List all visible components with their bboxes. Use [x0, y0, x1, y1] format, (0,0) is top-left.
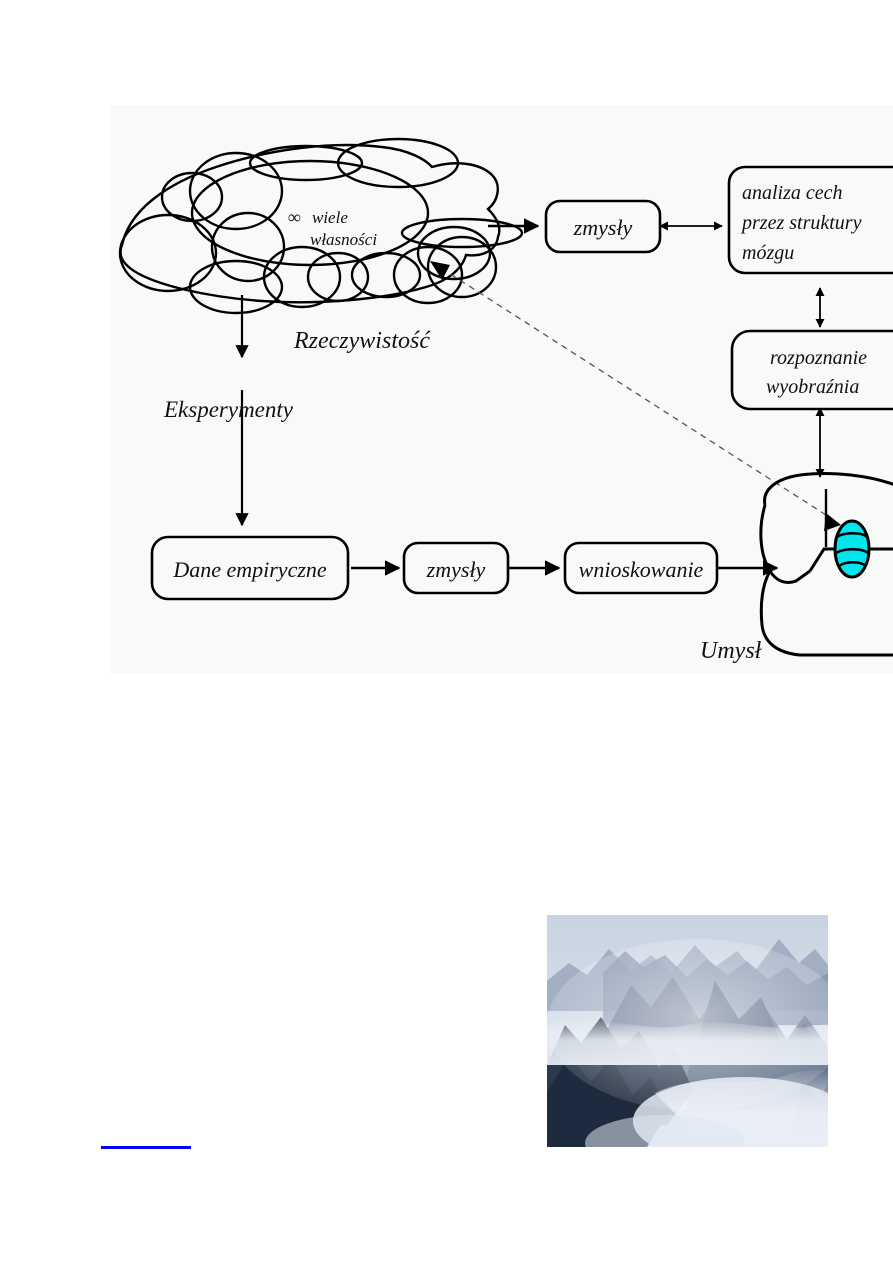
box-inference[interactable]: wnioskowanie [565, 543, 717, 593]
eye-pointer-arrowhead [824, 513, 841, 531]
diagram-panel: ∞ wiele własności Rzeczywistość z [110, 105, 893, 673]
cyan-lens-icon [835, 521, 869, 577]
box-brain-analysis-line2: przez struktury [740, 212, 862, 234]
mind-head-group [761, 474, 893, 656]
reality-bubble [192, 161, 428, 265]
box-brain-analysis[interactable]: analiza cech przez struktury mózgu [729, 167, 893, 273]
box-empirical-data[interactable]: Dane empiryczne [152, 537, 348, 599]
box-senses-bottom-label: zmysły [426, 557, 486, 582]
experiments-label: Eksperymenty [163, 397, 294, 422]
misty-mountains-photo [547, 915, 828, 1147]
box-inference-label: wnioskowanie [579, 557, 704, 582]
infinity-symbol: ∞ [288, 207, 301, 227]
reality-caption-line1: wiele [312, 208, 348, 227]
reality-bubble [190, 261, 282, 313]
box-brain-analysis-line1: analiza cech [742, 182, 843, 204]
reality-bubble [352, 253, 420, 297]
reality-caption-line2: własności [310, 230, 377, 249]
reality-bubble [418, 227, 490, 279]
box-senses-bottom[interactable]: zmysły [404, 543, 508, 593]
box-recognition-line1: rozpoznanie [770, 347, 867, 369]
head-face-contour [761, 505, 810, 583]
reality-bubble [120, 215, 216, 291]
reality-bubble [338, 139, 458, 187]
head-jaw-contour [761, 571, 893, 655]
footer-link[interactable] [101, 1132, 191, 1149]
box-empirical-data-label: Dane empiryczne [172, 557, 327, 582]
box-brain-analysis-line3: mózgu [742, 242, 794, 264]
reality-label: Rzeczywistość [293, 328, 431, 354]
photo-canvas [547, 915, 828, 1147]
box-recognition[interactable]: rozpoznanie wyobraźnia [732, 331, 893, 409]
box-senses-top[interactable]: zmysły [546, 201, 660, 252]
mind-label: Umysł [700, 638, 763, 664]
head-outline [765, 474, 893, 506]
reality-bubble [264, 247, 340, 307]
box-recognition-line2: wyobraźnia [766, 376, 859, 398]
box-senses-top-label: zmysły [573, 215, 633, 240]
diagram-canvas: ∞ wiele własności Rzeczywistość z [110, 105, 893, 673]
